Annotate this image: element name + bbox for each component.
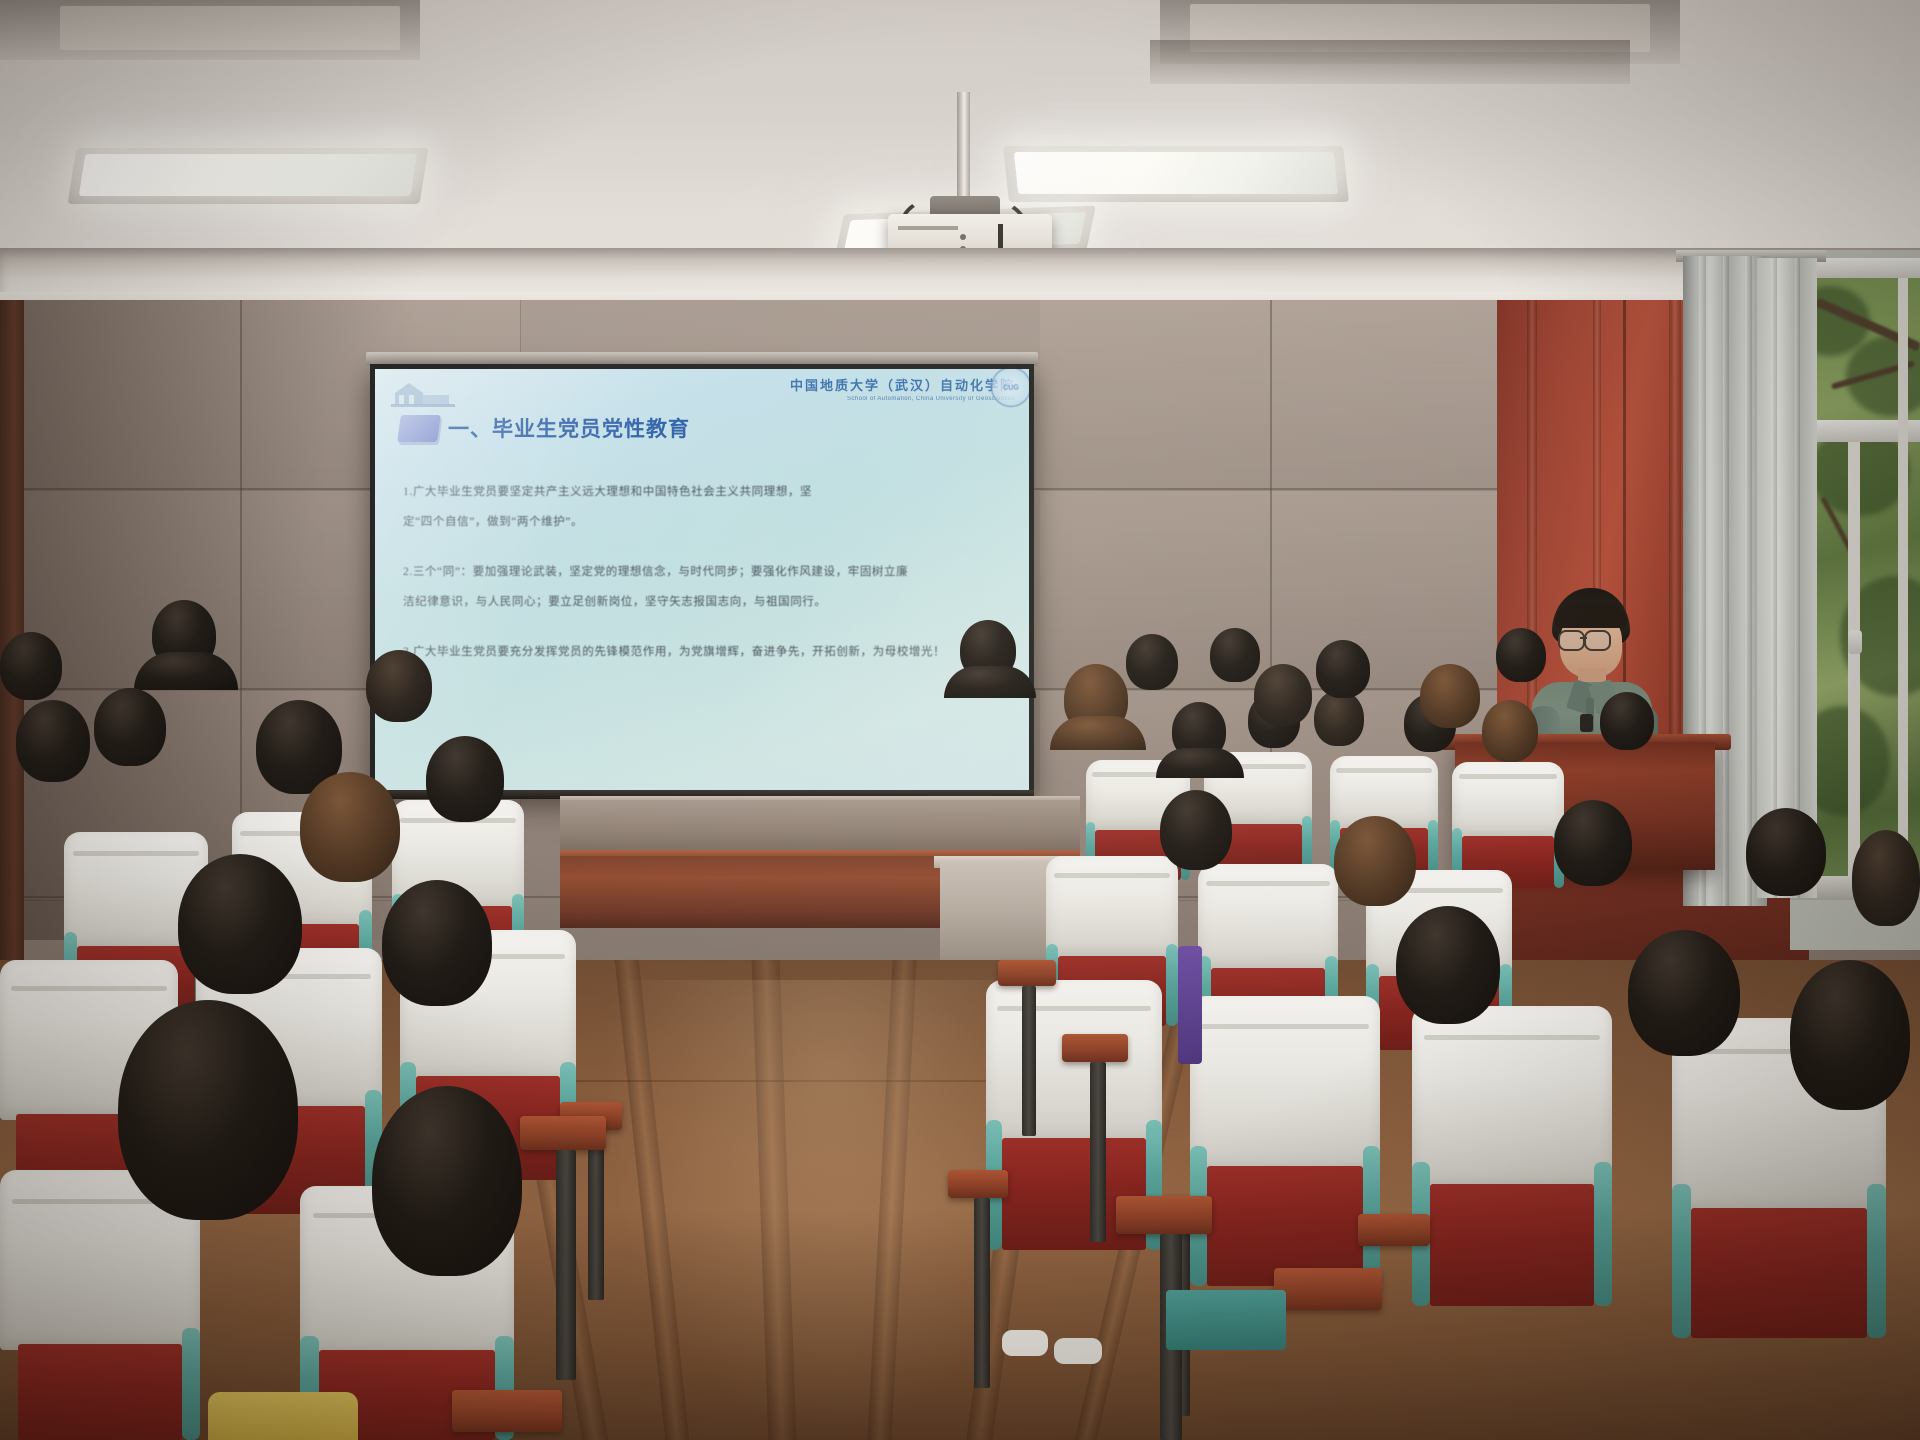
slide-title: 一、毕业生党员党性教育 — [448, 413, 690, 443]
projection-screen: 中国地质大学（武汉）自动化学院 School of Automation, Ch… — [375, 369, 1029, 791]
window-mullion-vertical-2 — [1898, 278, 1908, 878]
audience-head — [1790, 960, 1910, 1110]
seat-armrest[interactable] — [452, 1390, 562, 1432]
slide-university-wordmark: 中国地质大学（武汉）自动化学院 School of Automation, Ch… — [790, 375, 1015, 402]
audience-head — [1254, 664, 1312, 726]
audience-head — [118, 1000, 298, 1220]
audience-head — [1210, 628, 1260, 682]
seat-frame-right — [182, 1328, 200, 1440]
curtain-fold-2 — [1723, 256, 1729, 906]
seat-frame-right — [1867, 1184, 1886, 1338]
audience-head — [1396, 906, 1500, 1024]
audience-head — [1496, 628, 1546, 682]
presenter-glasses-bridge — [1580, 637, 1587, 639]
wall-panel-4 — [1040, 300, 1511, 491]
seat-back-cover — [1190, 996, 1380, 1172]
seat-back-cover — [986, 980, 1162, 1144]
presenter-glasses-right-lens — [1584, 630, 1611, 651]
purple-bag — [1178, 946, 1202, 1064]
seat-leg — [556, 1150, 576, 1380]
curtain-fold-3 — [1745, 256, 1752, 906]
audience-head — [300, 772, 400, 882]
window-mullion-vertical — [1848, 442, 1860, 878]
light-troffer-left — [79, 154, 418, 196]
seat-armrest[interactable] — [1062, 1034, 1128, 1062]
seat-frame-left — [1672, 1184, 1691, 1338]
shoe-left — [1002, 1330, 1048, 1356]
light-troffer-right — [1014, 152, 1338, 194]
audience-head — [1160, 790, 1232, 870]
presenter-fringe — [1555, 604, 1627, 628]
seat-leg — [588, 1130, 604, 1300]
audience-head — [16, 700, 90, 782]
seat-armrest[interactable] — [948, 1170, 1008, 1198]
seat-armrest[interactable] — [1116, 1196, 1212, 1234]
audience-head — [1126, 634, 1178, 690]
ceiling-slab-1 — [60, 6, 400, 50]
slide-paragraph-2-line-2: 洁纪律意识，与人民同心；要立足创新岗位，坚守矢志报国志向，与祖国同行。 — [403, 587, 1003, 617]
seat-base — [1166, 1290, 1286, 1350]
seat-leg — [1090, 1062, 1106, 1242]
seat[interactable] — [1190, 996, 1380, 1286]
audience-head — [1420, 664, 1480, 728]
audience-head — [1554, 800, 1632, 886]
seat-back-cover — [1412, 1006, 1612, 1190]
slide-seal-text: CUG — [1003, 384, 1019, 391]
seat-back-cover — [1046, 856, 1178, 960]
audience-head — [1316, 640, 1370, 698]
curtain-fold-4 — [1771, 258, 1777, 898]
seat-frame-right — [1166, 944, 1178, 1026]
slide-title-bullet-icon — [397, 415, 441, 442]
audience-head — [94, 688, 166, 766]
slide-title-row: 一、毕业生党员党性教育 — [399, 413, 690, 443]
seat-upholstery — [1691, 1208, 1866, 1338]
window-sash-handle — [1848, 630, 1862, 654]
ceiling-beam-shadow-3 — [1150, 40, 1630, 84]
seat-frame-right — [1594, 1162, 1612, 1306]
audience-head — [1628, 930, 1740, 1056]
yellow-garment — [208, 1392, 358, 1440]
audience-head — [426, 736, 504, 822]
seat-armrest[interactable] — [520, 1116, 606, 1150]
audience-shoulders — [944, 666, 1036, 698]
slide-university-name-en: School of Automation, China University o… — [790, 396, 1015, 402]
audience-head — [1482, 700, 1538, 762]
slide-paragraph-3-line-1: 3.广大毕业生党员要充分发挥党员的先锋模范作用，为党旗增辉，奋进争先，开拓创新，… — [403, 637, 1003, 667]
slide-building-logo — [389, 375, 465, 409]
audience-head — [1600, 692, 1654, 750]
slide-paragraph-2-line-1: 2.三个“同”：要加强理论武装，坚定党的理想信念，与时代同步；要强化作风建设，牢… — [403, 557, 1003, 587]
seat-upholstery — [18, 1344, 182, 1440]
seat-armrest[interactable] — [1358, 1214, 1430, 1246]
seat-leg — [1022, 986, 1036, 1136]
curtain-right-panel — [1757, 258, 1817, 898]
audience-head — [178, 854, 302, 994]
projector-vent — [898, 226, 958, 230]
audience-head — [1314, 690, 1364, 746]
projector-led-1 — [960, 234, 966, 240]
shoe-right — [1054, 1338, 1102, 1364]
seat[interactable] — [1412, 1006, 1612, 1306]
seat-leg — [974, 1198, 990, 1388]
audience-head — [372, 1086, 522, 1276]
lapel-microphone-icon — [1580, 714, 1593, 732]
seat-upholstery — [1430, 1184, 1594, 1306]
slide-paragraph-1-line-1: 1.广大毕业生党员要坚定共产主义远大理想和中国特色社会主义共同理想，坚 — [403, 477, 1003, 507]
slide-university-name-cn: 中国地质大学（武汉）自动化学院 — [790, 375, 1015, 394]
slide-paragraph-1-line-2: 定“四个自信”，做到“两个维护”。 — [403, 507, 1003, 537]
wall-panel-5 — [1040, 490, 1511, 691]
audience-head — [366, 650, 432, 722]
seat-armrest[interactable] — [998, 960, 1056, 986]
slide-university-seal-icon: CUG — [991, 369, 1029, 407]
seat-back-cover — [1198, 864, 1338, 972]
audience-head — [1334, 816, 1416, 906]
curtain-fold-5 — [1795, 258, 1800, 898]
audience-shoulders — [1156, 748, 1244, 778]
audience-head — [0, 632, 62, 700]
audience-head — [1746, 808, 1826, 896]
audience-head — [382, 880, 492, 1006]
presenter-glasses-left-lens — [1558, 630, 1585, 651]
seat-armrest[interactable] — [1274, 1268, 1382, 1310]
lecture-hall-photo: 中国地质大学（武汉）自动化学院 School of Automation, Ch… — [0, 0, 1920, 1440]
seat-back-cover — [1452, 762, 1564, 840]
audience-head — [1852, 830, 1920, 926]
